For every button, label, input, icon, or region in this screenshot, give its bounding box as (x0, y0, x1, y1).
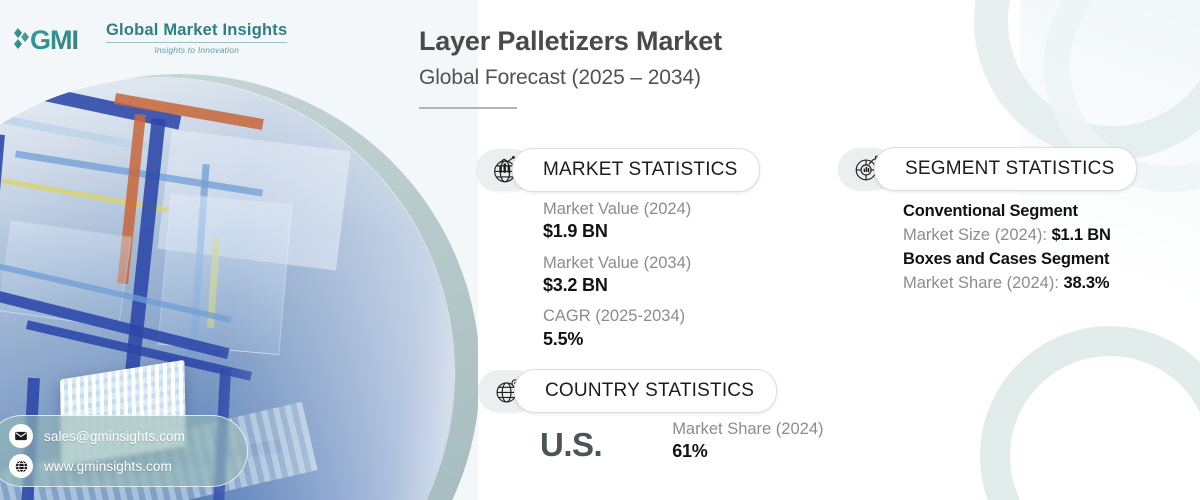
logo-divider (106, 42, 287, 43)
logo-tagline: Insights to Innovation (106, 46, 287, 55)
decorative-ring-top-right (974, 0, 1200, 160)
country-statistics-label: COUNTRY STATISTICS (545, 380, 754, 402)
segment-value: 38.3% (1064, 274, 1110, 292)
country-statistics-pill[interactable]: COUNTRY STATISTICS (514, 369, 777, 413)
page-title: Layer Palletizers Market (419, 26, 939, 57)
market-statistics-badge[interactable]: MARKET STATISTICS (476, 148, 760, 192)
contact-website-row[interactable]: www.gminsights.com (9, 454, 247, 478)
stat-row: Market Value (2024) $1.9 BN (543, 198, 691, 244)
country-statistics-values: U.S. Market Share (2024) 61% (540, 418, 824, 464)
stat-label: Market Value (2024) (543, 198, 691, 220)
svg-text:GMI: GMI (30, 25, 78, 54)
stat-label: CAGR (2025-2034) (543, 305, 691, 327)
segment-label: Market Size (2024): (903, 226, 1052, 244)
infographic-canvas: sales@gminsights.com www.gminsights.com (0, 0, 1200, 500)
hero-image-panel: sales@gminsights.com www.gminsights.com (0, 0, 478, 500)
segment-statistics-values: Conventional Segment Market Size (2024):… (903, 200, 1111, 296)
page-subtitle: Global Forecast (2025 – 2034) (419, 66, 939, 90)
envelope-icon (9, 424, 33, 448)
globe-icon (9, 454, 33, 478)
contact-card: sales@gminsights.com www.gminsights.com (0, 415, 248, 487)
country-share-block: Market Share (2024) 61% (672, 418, 823, 464)
segment-line: Market Share (2024): 38.3% (903, 272, 1111, 296)
decorative-ring-bottom-right (980, 326, 1200, 500)
header-divider (419, 107, 517, 109)
segment-item: Conventional Segment Market Size (2024):… (903, 200, 1111, 248)
market-statistics-values: Market Value (2024) $1.9 BN Market Value… (543, 198, 691, 351)
segment-statistics-badge[interactable]: SEGMENT STATISTICS (838, 147, 1137, 191)
segment-line: Market Size (2024): $1.1 BN (903, 224, 1111, 248)
contact-website-text: www.gminsights.com (44, 459, 172, 474)
gmi-diamond-logo-icon: GMI (14, 22, 98, 54)
segment-statistics-label: SEGMENT STATISTICS (905, 158, 1114, 180)
segment-heading: Boxes and Cases Segment (903, 248, 1111, 272)
segment-label: Market Share (2024): (903, 274, 1064, 292)
market-statistics-pill[interactable]: MARKET STATISTICS (512, 148, 760, 192)
contact-email-row[interactable]: sales@gminsights.com (9, 424, 247, 448)
stat-label: Market Value (2034) (543, 252, 691, 274)
contact-email-text: sales@gminsights.com (44, 429, 185, 444)
country-statistics-badge[interactable]: COUNTRY STATISTICS (478, 369, 777, 413)
stat-row: Market Value (2034) $3.2 BN (543, 252, 691, 298)
segment-value: $1.1 BN (1052, 226, 1111, 244)
header: Layer Palletizers Market Global Forecast… (419, 26, 939, 109)
country-share-value: 61% (672, 440, 823, 463)
logo-company-name: Global Market Insights (106, 22, 287, 39)
stat-value: $3.2 BN (543, 274, 691, 297)
stat-row: CAGR (2025-2034) 5.5% (543, 305, 691, 351)
stat-value: $1.9 BN (543, 220, 691, 243)
logo-wordmark: Global Market Insights Insights to Innov… (106, 22, 287, 54)
country-share-label: Market Share (2024) (672, 418, 823, 440)
segment-item: Boxes and Cases Segment Market Share (20… (903, 248, 1111, 296)
segment-heading: Conventional Segment (903, 200, 1111, 224)
stat-value: 5.5% (543, 328, 691, 351)
market-statistics-label: MARKET STATISTICS (543, 159, 737, 181)
gmi-logo[interactable]: GMI Global Market Insights Insights to I… (14, 22, 287, 54)
segment-statistics-pill[interactable]: SEGMENT STATISTICS (874, 147, 1137, 191)
country-name: U.S. (540, 418, 602, 461)
